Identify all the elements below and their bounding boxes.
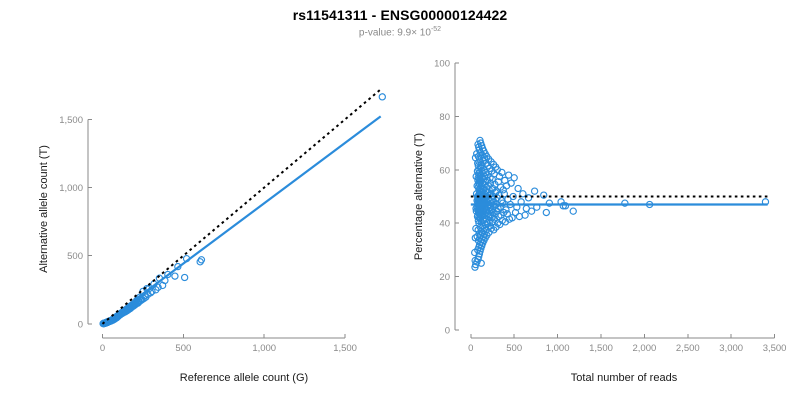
y-tick-label: 80 (439, 112, 450, 123)
y-tick-label: 40 (439, 219, 450, 230)
x-axis-ticks: 05001,0001,5002,0002,5003,0003,500 (468, 334, 786, 354)
x-tick-label: 2,500 (676, 343, 700, 354)
data-point (523, 205, 529, 211)
allele-count-scatter-svg: 05001,0001,50005001,0001,500Reference al… (0, 0, 400, 400)
x-axis-ticks: 05001,0001,500 (100, 334, 357, 354)
data-point (515, 185, 521, 191)
x-tick-label: 1,500 (333, 343, 357, 354)
x-tick-label: 1,000 (252, 343, 276, 354)
fit-line (102, 116, 380, 324)
data-point (379, 94, 385, 100)
y-tick-label: 60 (439, 165, 450, 176)
reference-line (102, 89, 380, 324)
data-point (197, 259, 203, 265)
panel-percentage-alternative-scatter: 05001,0001,5002,0002,5003,0003,500020406… (400, 0, 800, 400)
x-tick-label: 3,000 (719, 343, 743, 354)
y-tick-label: 1,500 (59, 115, 83, 126)
y-axis-title: Percentage alternative (T) (413, 133, 425, 260)
y-tick-label: 1,000 (59, 183, 83, 194)
x-tick-label: 500 (506, 343, 522, 354)
data-point (570, 208, 576, 214)
x-axis-title: Total number of reads (571, 372, 678, 384)
x-tick-label: 0 (468, 343, 473, 354)
data-point (182, 274, 188, 280)
y-tick-label: 500 (67, 251, 83, 262)
x-tick-label: 1,500 (589, 343, 613, 354)
panel-allele-count-scatter: 05001,0001,50005001,0001,500Reference al… (0, 0, 400, 400)
x-tick-label: 3,500 (763, 343, 787, 354)
x-tick-label: 500 (175, 343, 191, 354)
x-tick-label: 1,000 (546, 343, 570, 354)
data-points (100, 94, 385, 327)
data-point (172, 273, 178, 279)
y-tick-label: 100 (434, 59, 450, 70)
x-axis-title: Reference allele count (G) (180, 372, 308, 384)
percentage-alternative-scatter-svg: 05001,0001,5002,0002,5003,0003,500020406… (400, 0, 800, 400)
y-tick-label: 20 (439, 272, 450, 283)
figure-container: rs11541311 - ENSG00000124422 p-value: 9.… (0, 0, 800, 400)
y-tick-label: 0 (78, 319, 83, 330)
y-tick-label: 0 (445, 326, 450, 337)
y-axis-ticks: 05001,0001,500 (59, 115, 92, 331)
x-tick-label: 0 (100, 343, 105, 354)
data-point (532, 188, 538, 194)
x-tick-label: 2,000 (633, 343, 657, 354)
y-axis-title: Alternative allele count (T) (38, 145, 50, 273)
data-point (543, 209, 549, 215)
